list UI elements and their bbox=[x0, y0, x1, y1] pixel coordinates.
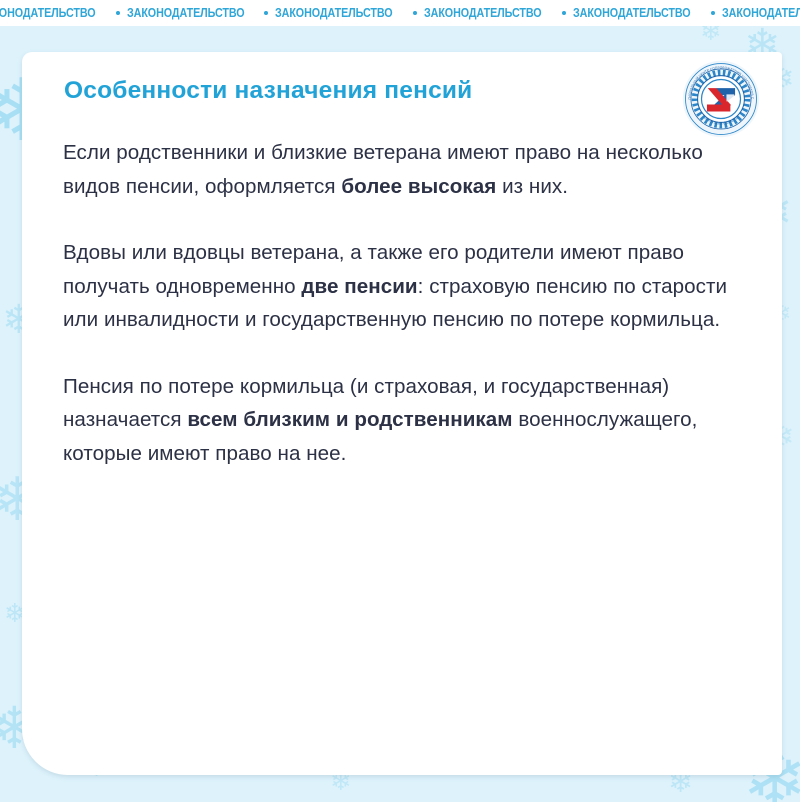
emphasis-text: более высокая bbox=[341, 175, 496, 198]
legislation-banner-track: ЗАКОНОДАТЕЛЬСТВОЗАКОНОДАТЕЛЬСТВОЗАКОНОДА… bbox=[0, 6, 800, 20]
body-text-block: Если родственники и близкие ветерана име… bbox=[63, 136, 753, 470]
banner-separator-dot bbox=[264, 11, 268, 15]
legislation-banner: ЗАКОНОДАТЕЛЬСТВОЗАКОНОДАТЕЛЬСТВОЗАКОНОДА… bbox=[0, 0, 800, 26]
paragraph-3: Пенсия по потере кормильца (и страховая,… bbox=[63, 370, 753, 471]
banner-separator-dot bbox=[562, 11, 566, 15]
legislation-banner-word: ЗАКОНОДАТЕЛЬСТВО bbox=[573, 6, 691, 20]
banner-separator-dot bbox=[413, 11, 417, 15]
legislation-banner-word: ЗАКОНОДАТЕЛЬСТВО bbox=[275, 6, 393, 20]
emphasis-text: две пенсии bbox=[301, 275, 417, 298]
emphasis-text: всем близким и родственникам bbox=[187, 408, 512, 431]
banner-separator-dot bbox=[711, 11, 715, 15]
slide-root: ❄❄❄❄❄❄❄❄❄❄❄❄❄❄❄❄ ЗАКОНОДАТЕЛЬСТВОЗАКОНОД… bbox=[0, 0, 800, 802]
body-text-run: из них. bbox=[496, 175, 568, 198]
legislation-banner-word: ЗАКОНОДАТЕЛЬСТВО bbox=[127, 6, 245, 20]
organization-emblem: РЕГИОНАЛЬНЫЙ ЦЕНТР СОПРОВОЖДЕНИЯ УЧАСТНИ… bbox=[682, 60, 760, 138]
page-title: Особенности назначения пенсий bbox=[64, 77, 472, 105]
legislation-banner-word: ЗАКОНОДАТЕЛЬСТВО bbox=[722, 6, 800, 20]
legislation-banner-word: ЗАКОНОДАТЕЛЬСТВО bbox=[0, 6, 96, 20]
paragraph-2: Вдовы или вдовцы ветерана, а также его р… bbox=[63, 236, 753, 337]
content-card: Особенности назначения пенсий Если родст… bbox=[22, 52, 782, 775]
banner-separator-dot bbox=[116, 11, 120, 15]
legislation-banner-word: ЗАКОНОДАТЕЛЬСТВО bbox=[424, 6, 542, 20]
paragraph-1: Если родственники и близкие ветерана име… bbox=[63, 136, 753, 203]
